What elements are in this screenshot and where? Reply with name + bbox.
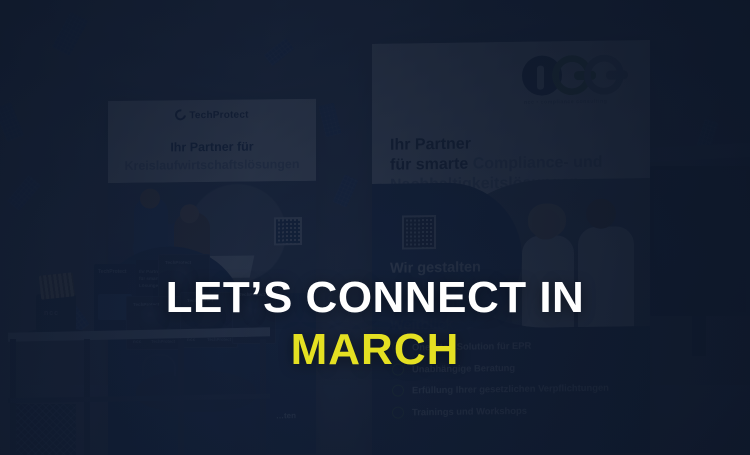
vignette-overlay [0, 0, 750, 455]
marketing-banner-image: TechProtect Ihr Partner für Kreislaufwir… [0, 0, 750, 455]
